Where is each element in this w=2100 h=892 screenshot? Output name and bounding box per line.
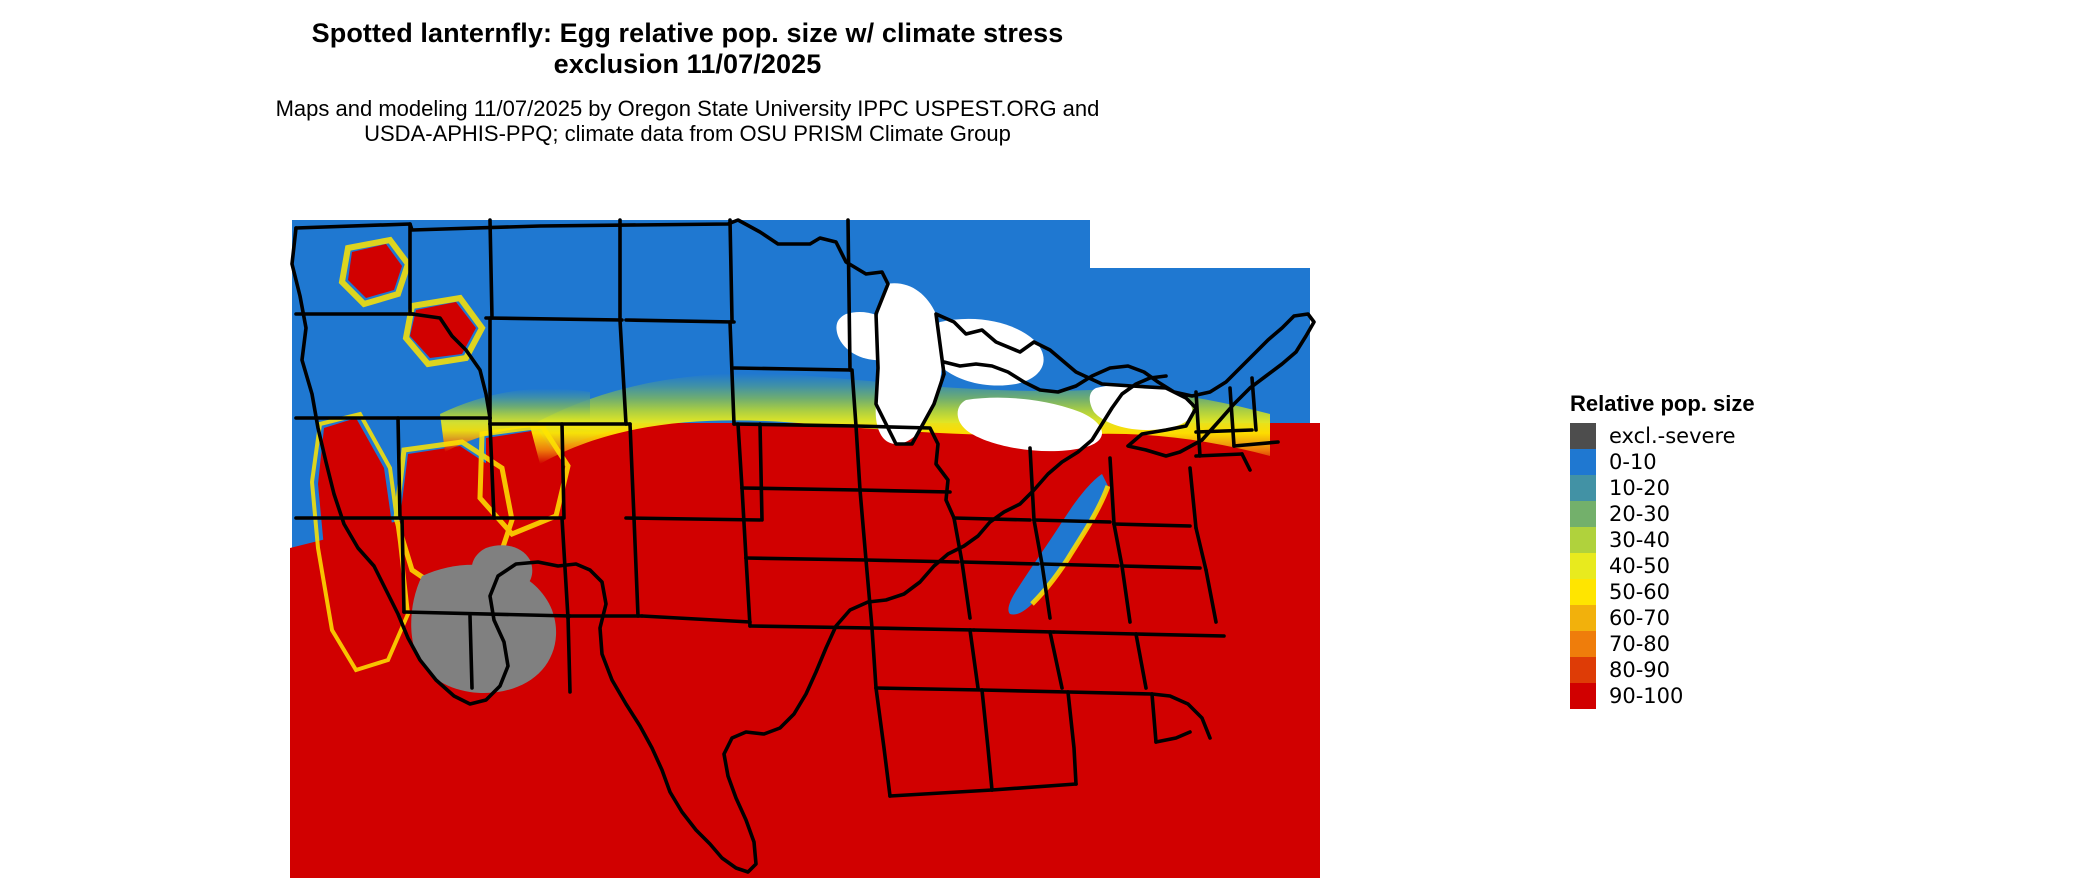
legend-swatch-40-50 bbox=[1570, 553, 1596, 579]
us-choropleth-map bbox=[290, 218, 1320, 878]
legend-label-50-60: 50-60 bbox=[1609, 582, 1670, 603]
legend-item-excl-severe: excl.-severe bbox=[1570, 423, 1755, 449]
figure-subtitle: Maps and modeling 11/07/2025 by Oregon S… bbox=[0, 96, 1375, 146]
legend-label-40-50: 40-50 bbox=[1609, 556, 1670, 577]
legend-item-10-20: 10-20 bbox=[1570, 475, 1755, 501]
legend-label-0-10: 0-10 bbox=[1609, 452, 1657, 473]
legend-item-0-10: 0-10 bbox=[1570, 449, 1755, 475]
legend-item-60-70: 60-70 bbox=[1570, 605, 1755, 631]
legend-label-20-30: 20-30 bbox=[1609, 504, 1670, 525]
legend-label-excl-severe: excl.-severe bbox=[1609, 426, 1736, 447]
legend-item-40-50: 40-50 bbox=[1570, 553, 1755, 579]
legend-swatch-20-30 bbox=[1570, 501, 1596, 527]
legend-swatch-70-80 bbox=[1570, 631, 1596, 657]
legend-swatch-0-10 bbox=[1570, 449, 1596, 475]
legend-label-80-90: 80-90 bbox=[1609, 660, 1670, 681]
legend-swatch-60-70 bbox=[1570, 605, 1596, 631]
legend-swatch-10-20 bbox=[1570, 475, 1596, 501]
page-title: Spotted lanternfly: Egg relative pop. si… bbox=[0, 18, 1375, 80]
legend-item-50-60: 50-60 bbox=[1570, 579, 1755, 605]
legend-swatch-80-90 bbox=[1570, 657, 1596, 683]
legend-item-30-40: 30-40 bbox=[1570, 527, 1755, 553]
legend-label-30-40: 30-40 bbox=[1609, 530, 1670, 551]
legend-item-80-90: 80-90 bbox=[1570, 657, 1755, 683]
map-panel bbox=[290, 218, 1320, 878]
legend-title: Relative pop. size bbox=[1570, 392, 1755, 416]
legend: Relative pop. size excl.-severe 0-10 10-… bbox=[1570, 392, 1755, 709]
legend-label-10-20: 10-20 bbox=[1609, 478, 1670, 499]
legend-label-60-70: 60-70 bbox=[1609, 608, 1670, 629]
legend-item-70-80: 70-80 bbox=[1570, 631, 1755, 657]
title-block: Spotted lanternfly: Egg relative pop. si… bbox=[0, 18, 1375, 146]
legend-swatch-50-60 bbox=[1570, 579, 1596, 605]
legend-item-90-100: 90-100 bbox=[1570, 683, 1755, 709]
legend-label-70-80: 70-80 bbox=[1609, 634, 1670, 655]
legend-item-20-30: 20-30 bbox=[1570, 501, 1755, 527]
legend-swatch-excl-severe bbox=[1570, 423, 1596, 449]
legend-label-90-100: 90-100 bbox=[1609, 686, 1683, 707]
legend-swatch-30-40 bbox=[1570, 527, 1596, 553]
legend-swatch-90-100 bbox=[1570, 683, 1596, 709]
map-raster-layer bbox=[290, 220, 1320, 878]
